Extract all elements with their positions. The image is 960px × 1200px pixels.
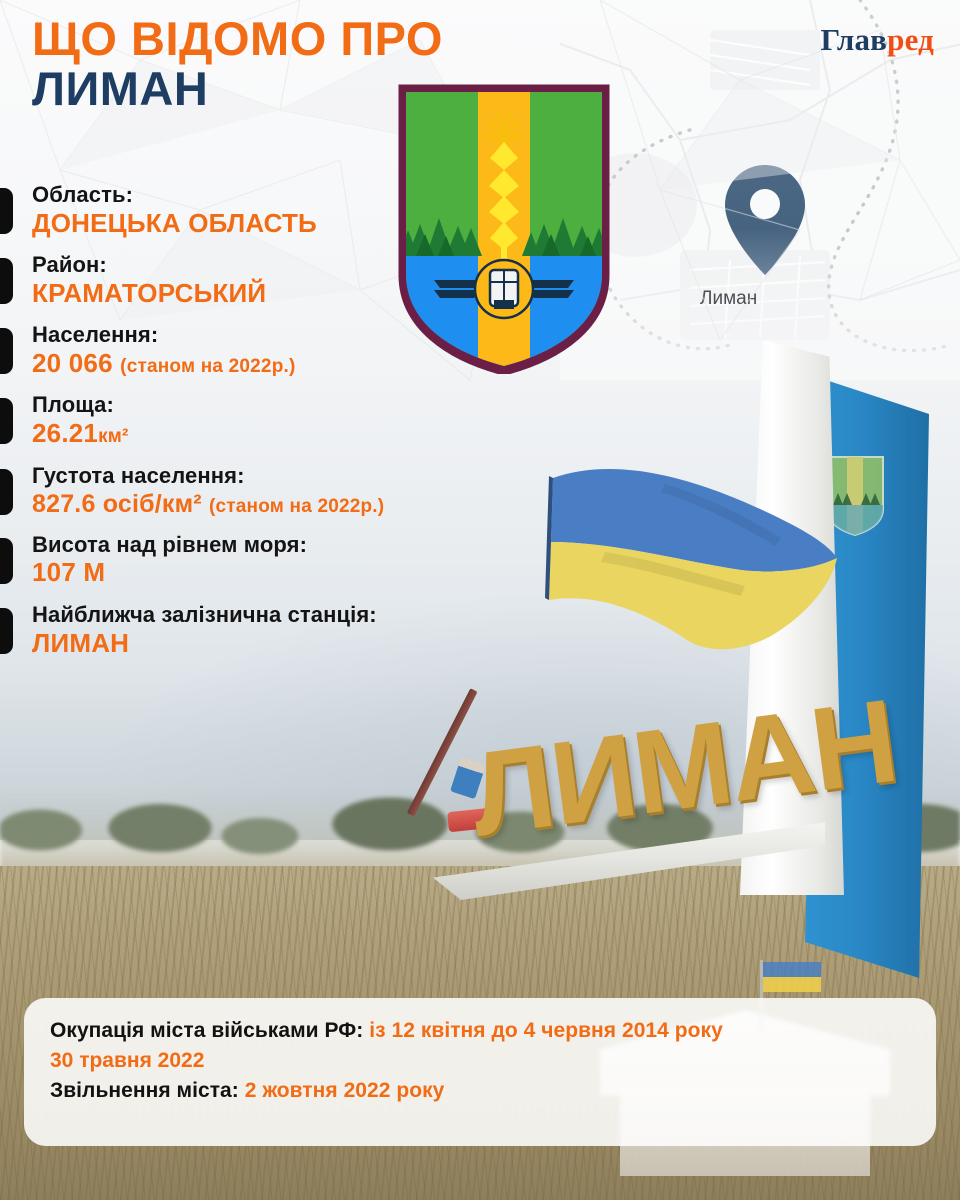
- occupation-liberation-banner: Окупація міста військами РФ: із 12 квітн…: [24, 998, 936, 1146]
- fact-value-number: 20 066: [32, 348, 113, 378]
- title-line-1: ЩО ВІДОМО ПРО: [32, 14, 592, 64]
- fact-value: ЛИМАН: [32, 628, 520, 659]
- fact-label: Площа:: [32, 392, 520, 418]
- fact-value-unit: км²: [98, 426, 129, 447]
- fact-item-railway-station: Найближча залізнична станція: ЛИМАН: [0, 602, 520, 659]
- fact-value: 20 066 (станом на 2022р.): [32, 348, 520, 379]
- banner-line-second-date: 30 травня 2022: [50, 1046, 910, 1076]
- fact-item-population: Населення: 20 066 (станом на 2022р.): [0, 322, 520, 379]
- bullet-marker: [0, 469, 13, 515]
- banner-liberation-value: 2 жовтня 2022 року: [245, 1079, 445, 1102]
- fact-value-note: (станом на 2022р.): [209, 496, 384, 517]
- fact-item-density: Густота населення: 827.6 осіб/км² (стано…: [0, 463, 520, 519]
- fact-value: 26.21км²: [32, 418, 520, 449]
- fact-value-note: (станом на 2022р.): [120, 356, 295, 377]
- fact-item-raion: Район: КРАМАТОРСЬКИЙ: [0, 252, 520, 309]
- fact-item-area: Площа: 26.21км²: [0, 392, 520, 449]
- fact-item-oblast: Область: ДОНЕЦЬКА ОБЛАСТЬ: [0, 182, 520, 239]
- facts-list: Область: ДОНЕЦЬКА ОБЛАСТЬ Район: КРАМАТО…: [0, 182, 520, 672]
- fact-label: Область:: [32, 182, 520, 208]
- fact-value: КРАМАТОРСЬКИЙ: [32, 278, 520, 309]
- bullet-marker: [0, 398, 13, 444]
- bullet-marker: [0, 328, 13, 374]
- fact-label: Густота населення:: [32, 463, 520, 489]
- banner-occupation-label: Окупація міста військами РФ:: [50, 1019, 363, 1042]
- fact-value: 827.6 осіб/км² (станом на 2022р.): [32, 489, 520, 519]
- ukraine-flag: [545, 450, 845, 675]
- fact-item-elevation: Висота над рівнем моря: 107 М: [0, 532, 520, 589]
- banner-liberation-label: Звільнення міста:: [50, 1079, 239, 1102]
- fact-label: Район:: [32, 252, 520, 278]
- banner-line-liberation: Звільнення міста: 2 жовтня 2022 року: [50, 1076, 910, 1106]
- banner-occupation-value: із 12 квітня до 4 червня 2014 року: [369, 1019, 723, 1042]
- fact-value-number: 26.21: [32, 418, 98, 448]
- logo-part-one: Глав: [820, 22, 887, 57]
- bullet-marker: [0, 258, 13, 304]
- building-flag: [763, 962, 821, 992]
- banner-line-occupation: Окупація міста військами РФ: із 12 квітн…: [50, 1016, 910, 1046]
- fact-label: Найближча залізнична станція:: [32, 602, 520, 628]
- fact-label: Висота над рівнем моря:: [32, 532, 520, 558]
- fact-value: ДОНЕЦЬКА ОБЛАСТЬ: [32, 208, 520, 239]
- bullet-marker: [0, 608, 13, 654]
- logo-part-two: ред: [887, 22, 934, 57]
- glavred-logo[interactable]: Главред: [820, 22, 934, 58]
- infographic-poster: Лиман ЩО ВІДОМО ПРО ЛИМАН Главред: [0, 0, 960, 1200]
- bullet-marker: [0, 538, 13, 584]
- fact-value-number: 827.6 осіб/км²: [32, 490, 202, 518]
- fact-value: 107 М: [32, 557, 520, 588]
- fact-label: Населення:: [32, 322, 520, 348]
- bullet-marker: [0, 188, 13, 234]
